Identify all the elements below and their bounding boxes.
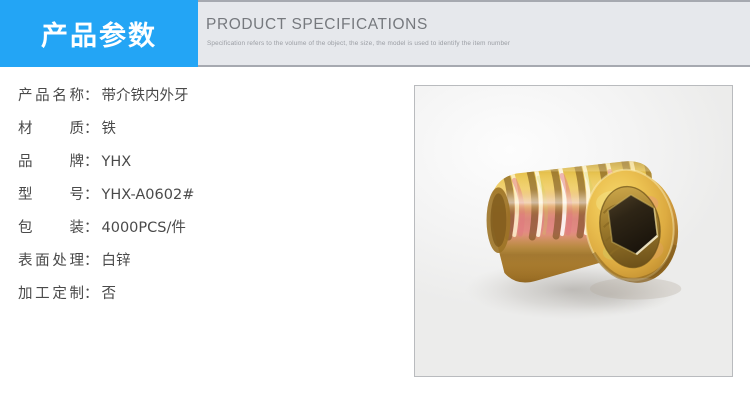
spec-value: 否 (102, 282, 117, 303)
spec-label: 型号 (18, 183, 84, 204)
spec-colon: ： (84, 150, 102, 171)
spec-colon: ： (84, 282, 102, 303)
spec-label: 产品名称 (18, 84, 84, 105)
header-subtitle: Specification refers to the volume of th… (207, 40, 510, 47)
header-english-title: PRODUCT SPECIFICATIONS (206, 16, 428, 34)
page-header: 产品参数 PRODUCT SPECIFICATIONS Specificatio… (0, 0, 750, 67)
spec-row: 表面处理 ： 白锌 (18, 249, 398, 282)
spec-row: 材质 ： 铁 (18, 117, 398, 150)
specification-list: 产品名称 ： 带介铁内外牙 材质 ： 铁 品牌 ： YHX 型号 ： YHX-A… (18, 84, 398, 315)
spec-value: 白锌 (102, 249, 131, 270)
spec-value: 带介铁内外牙 (102, 84, 189, 105)
spec-row: 包装 ： 4000PCS/件 (18, 216, 398, 249)
header-accent-badge: 产品参数 (0, 0, 198, 67)
spec-row: 型号 ： YHX-A0602# (18, 183, 398, 216)
spec-row: 加工定制 ： 否 (18, 282, 398, 315)
insert-nut-illustration (415, 86, 732, 376)
spec-label: 表面处理 (18, 249, 84, 270)
spec-colon: ： (84, 216, 102, 237)
spec-label: 材质 (18, 117, 84, 138)
spec-label: 加工定制 (18, 282, 84, 303)
spec-colon: ： (84, 117, 102, 138)
spec-label: 包装 (18, 216, 84, 237)
spec-colon: ： (84, 249, 102, 270)
spec-label: 品牌 (18, 150, 84, 171)
spec-row: 品牌 ： YHX (18, 150, 398, 183)
spec-colon: ： (84, 183, 102, 204)
spec-row: 产品名称 ： 带介铁内外牙 (18, 84, 398, 117)
product-photo-frame (414, 85, 733, 377)
header-badge-title: 产品参数 (41, 14, 157, 53)
spec-value: YHX (102, 154, 132, 170)
spec-colon: ： (84, 84, 102, 105)
spec-value: YHX-A0602# (102, 187, 195, 203)
spec-value: 铁 (102, 117, 117, 138)
spec-value: 4000PCS/件 (102, 216, 186, 237)
